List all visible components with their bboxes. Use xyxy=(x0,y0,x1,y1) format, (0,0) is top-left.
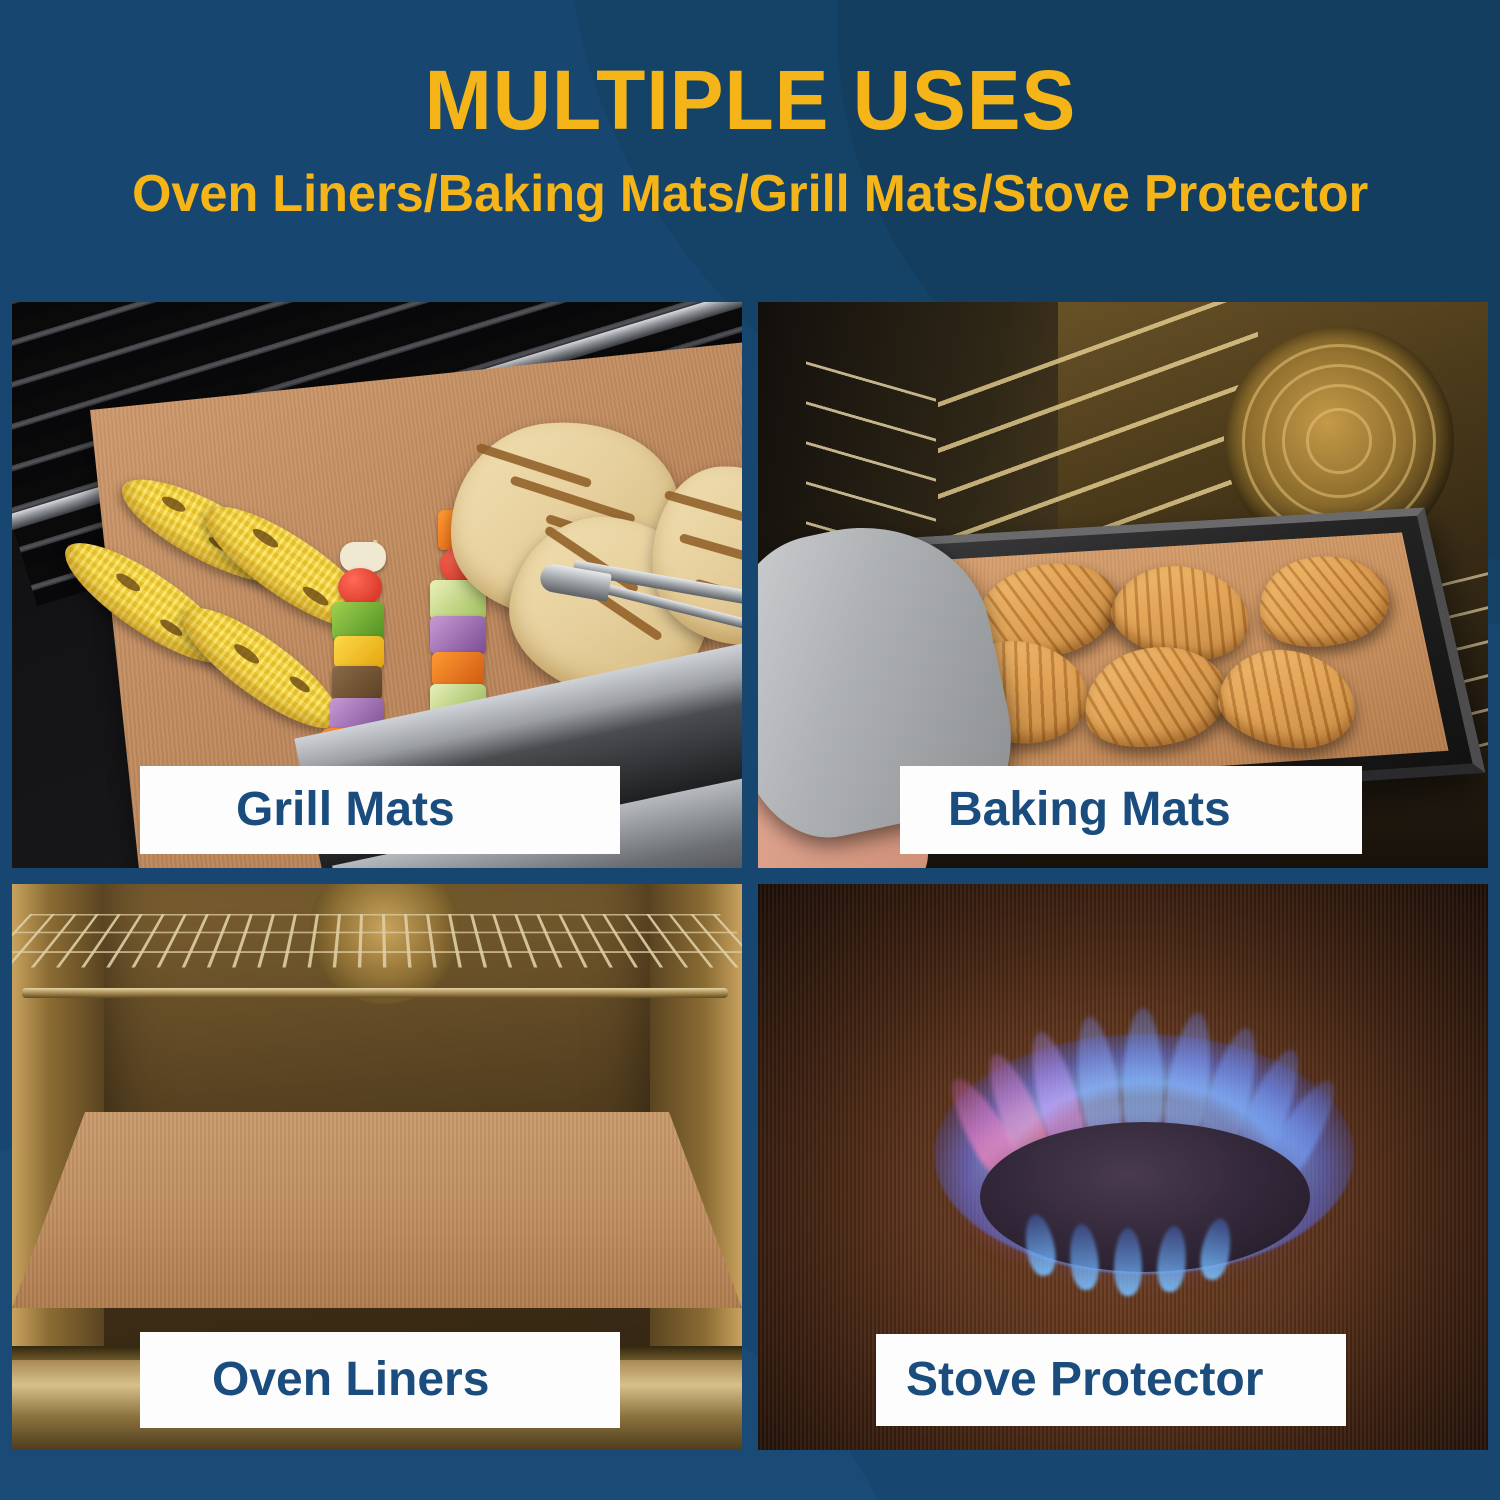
oven-liner-mat xyxy=(12,1112,742,1308)
caption-baking-mats: Baking Mats xyxy=(900,766,1362,854)
caption-text: Oven Liners xyxy=(212,1356,489,1404)
uses-grid: Grill Mats Baking Ma xyxy=(12,302,1488,1466)
panel-stove-protector[interactable]: Stove Protector xyxy=(758,884,1488,1450)
page-subtitle: Oven Liners/Baking Mats/Grill Mats/Stove… xyxy=(132,168,1368,220)
caption-text: Grill Mats xyxy=(236,786,455,834)
panel-grill-mats[interactable]: Grill Mats xyxy=(12,302,742,868)
caption-stove-protector: Stove Protector xyxy=(876,1334,1346,1426)
panel-oven-liners[interactable]: Oven Liners xyxy=(12,884,742,1450)
panel-baking-mats[interactable]: Baking Mats xyxy=(758,302,1488,868)
page-title: MULTIPLE USES xyxy=(424,58,1076,142)
header: MULTIPLE USES Oven Liners/Baking Mats/Gr… xyxy=(0,0,1500,300)
oven-wire-rack xyxy=(12,914,742,968)
caption-text: Stove Protector xyxy=(906,1356,1263,1404)
caption-text: Baking Mats xyxy=(948,786,1231,834)
caption-oven-liners: Oven Liners xyxy=(140,1332,620,1428)
caption-grill-mats: Grill Mats xyxy=(140,766,620,854)
oven-rack-front-bar xyxy=(22,988,728,998)
